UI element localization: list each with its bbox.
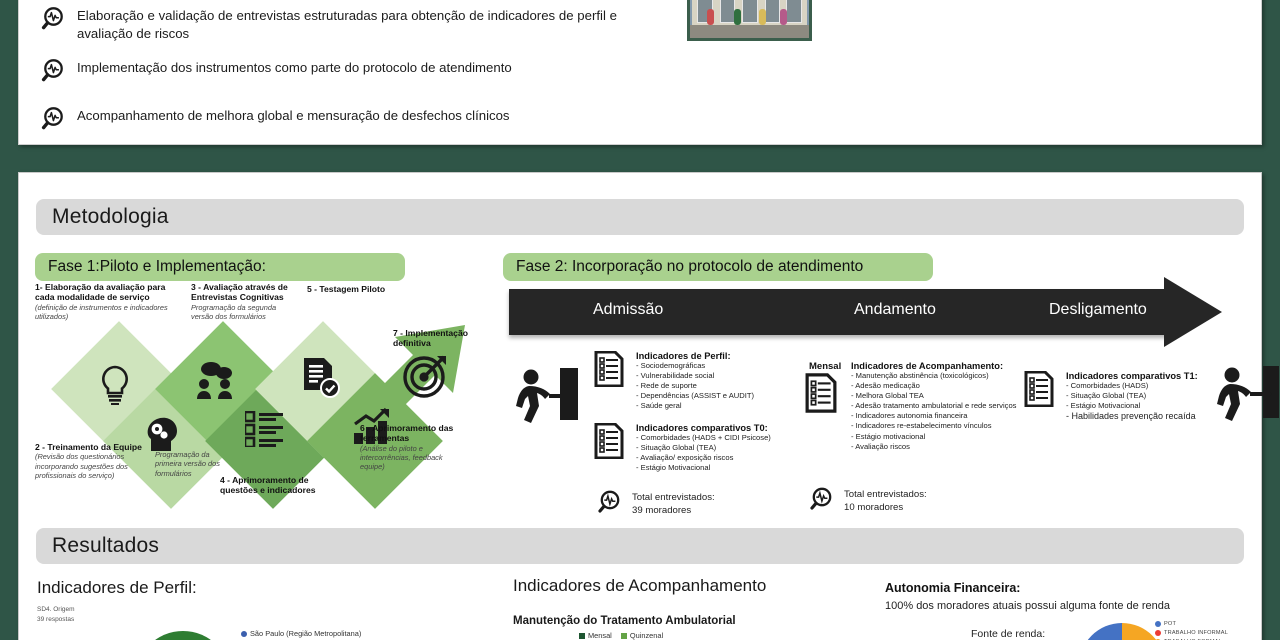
autonomia-title: Autonomia Financeira: xyxy=(885,581,1020,595)
clipboard-icon xyxy=(805,373,837,418)
people-chat-icon xyxy=(195,361,239,406)
acomp-chart-title: Manutenção do Tratamento Ambulatorial xyxy=(513,615,736,627)
block-item: - Adesão tratamento ambulatorial e rede … xyxy=(851,401,1025,411)
block-item: - Comorbidades (HADS + CIDI Psicose) xyxy=(636,433,784,443)
block-item: - Estágio motivacional xyxy=(851,432,1025,442)
timeline-stage-admissao: Admissão xyxy=(593,301,663,319)
timeline-stage-desligamento: Desligamento xyxy=(1049,301,1147,319)
list-item: Elaboração e validação de entrevistas es… xyxy=(41,7,641,42)
magnifier-pulse-icon xyxy=(809,485,837,518)
total-value: 10 moradores xyxy=(844,502,927,515)
block-item: - Estágio Motivacional xyxy=(1066,401,1224,411)
block-title: Indicadores de Acompanhamento: xyxy=(851,361,1025,371)
step-title: 3 - Avaliação através de Entrevistas Cog… xyxy=(191,282,288,302)
block-item: - Rede de suporte xyxy=(636,381,774,391)
target-icon xyxy=(403,353,449,404)
total-label: Total entrevistados: xyxy=(844,489,927,502)
magnifier-pulse-icon xyxy=(41,5,71,38)
block-item: - Avaliação riscos xyxy=(851,442,1025,452)
block-item: - Manutenção abstinência (toxicológicos) xyxy=(851,371,1025,381)
treatment-timeline: Admissão Andamento Desligamento xyxy=(509,289,1224,335)
facility-photo xyxy=(687,0,812,41)
legend-label: TRABALHO INFORMAL xyxy=(1164,630,1228,636)
perfil-pie-legend: São Paulo (Região Metropolitana) xyxy=(241,629,361,638)
fonte-renda-pie-chart xyxy=(1079,623,1165,640)
magnifier-pulse-icon xyxy=(41,57,71,90)
andamento-frequency: Mensal xyxy=(809,361,841,372)
block-item: - Situação Global (TEA) xyxy=(1066,391,1224,401)
fonte-renda-legend: POT TRABALHO INFORMAL TRABALHO FORMAL xyxy=(1155,621,1228,640)
bullet-list: Elaboração e validação de entrevistas es… xyxy=(41,7,641,155)
block-item: - Vulnerabilidade social xyxy=(636,371,774,381)
step-note: Programação da segunda versão dos formul… xyxy=(191,303,296,322)
bullet-text: Implementação dos instrumentos como part… xyxy=(77,59,617,77)
legend-label: Quinzenal xyxy=(630,631,663,640)
person-exiting-icon xyxy=(1217,366,1279,427)
checklist-icon xyxy=(245,411,285,452)
clipboard-icon xyxy=(594,351,624,392)
block-title: Indicadores de Perfil: xyxy=(636,351,774,361)
clipboard-icon xyxy=(1024,371,1054,412)
top-card: Elaboração e validação de entrevistas es… xyxy=(18,0,1262,145)
block-item: - Sociodemográficas xyxy=(636,361,774,371)
legend-label: São Paulo (Região Metropolitana) xyxy=(250,629,361,638)
admissao-total: Total entrevistados: 39 moradores xyxy=(597,488,715,521)
step-title: 7 - Implementação definitiva xyxy=(393,328,468,348)
step-title: 4 - Aprimoramento de questões e indicado… xyxy=(220,475,316,495)
results-col1-title: Indicadores de Perfil: xyxy=(37,578,197,598)
magnifier-pulse-icon xyxy=(41,105,71,138)
list-item: Acompanhamento de melhora global e mensu… xyxy=(41,107,641,138)
block-item: - Indicadores re-estabelecimento vínculo… xyxy=(851,421,1025,431)
step-note: (definição de instrumentos e indicadores… xyxy=(35,303,187,322)
block-item: - Estágio Motivacional xyxy=(636,463,784,473)
perfil-chart-responses: 39 respostas xyxy=(37,615,74,625)
fase1-pill: Fase 1:Piloto e Implementação: xyxy=(35,253,405,281)
lightbulb-icon xyxy=(97,365,133,410)
block-title: Indicadores comparativos T0: xyxy=(636,423,784,433)
clipboard-icon xyxy=(594,423,624,464)
block-item: - Comorbidades (HADS) xyxy=(1066,381,1224,391)
block-item: - Indicadores autonomia financeira xyxy=(851,411,1025,421)
admissao-block-t0: Indicadores comparativos T0: - Comorbida… xyxy=(594,423,784,473)
andamento-total: Total entrevistados: 10 moradores xyxy=(809,485,927,518)
fonte-renda-label: Fonte de renda: xyxy=(971,628,1045,640)
block-item: - Dependências (ASSIST e AUDIT) xyxy=(636,391,774,401)
section-title-resultados: Resultados xyxy=(36,528,1244,564)
step-title: 2 - Treinamento da Equipe xyxy=(35,442,142,452)
autonomia-text: 100% dos moradores atuais possui alguma … xyxy=(885,600,1170,612)
document-check-icon xyxy=(301,357,341,404)
step-note: (Análise do piloto e intercorrências, fe… xyxy=(360,444,460,472)
block-item: - Melhora Global TEA xyxy=(851,391,1025,401)
block-item: - Saúde geral xyxy=(636,401,774,411)
bullet-text: Elaboração e validação de entrevistas es… xyxy=(77,7,617,42)
perfil-chart-caption: SD4. Origem xyxy=(37,605,75,615)
poster-root: Elaboração e validação de entrevistas es… xyxy=(0,0,1280,640)
results-col2-title: Indicadores de Acompanhamento xyxy=(513,576,766,596)
step-note: (Revisão dos questionários incorporando … xyxy=(35,452,155,480)
total-label: Total entrevistados: xyxy=(632,492,715,505)
block-title: Indicadores comparativos T1: xyxy=(1066,371,1224,381)
bullet-text: Acompanhamento de melhora global e mensu… xyxy=(77,107,617,125)
stairs-infographic: Desintoxicação Centro de Convivência xyxy=(829,0,1269,46)
step-title: 1- Elaboração da avaliação para cada mod… xyxy=(35,282,165,302)
legend-label: Mensal xyxy=(588,631,612,640)
timeline-stage-andamento: Andamento xyxy=(854,301,936,319)
person-entering-icon xyxy=(516,368,578,429)
step-title: 5 - Testagem Piloto xyxy=(307,284,385,294)
perfil-pie-chart xyxy=(135,631,231,640)
block-item: - Habilidades prevenção recaída xyxy=(1066,411,1224,423)
andamento-block: Indicadores de Acompanhamento: - Manuten… xyxy=(805,373,1025,452)
block-item: - Situação Global (TEA) xyxy=(636,443,784,453)
fase2-pill: Fase 2: Incorporação no protocolo de ate… xyxy=(503,253,933,281)
admissao-block-perfil: Indicadores de Perfil: - Sociodemográfic… xyxy=(594,351,774,411)
block-item: - Adesão medicação xyxy=(851,381,1025,391)
list-item: Implementação dos instrumentos como part… xyxy=(41,59,641,90)
step-title: 6 - Aprimoramento das ferramentas xyxy=(360,423,453,443)
main-card: Metodologia Fase 1:Piloto e Implementaçã… xyxy=(18,172,1262,640)
block-item: - Avaliação/ exposição riscos xyxy=(636,453,784,463)
magnifier-pulse-icon xyxy=(597,488,625,521)
total-value: 39 moradores xyxy=(632,505,715,518)
desligamento-block: Indicadores comparativos T1: - Comorbida… xyxy=(1024,371,1224,423)
step-note: Programação da primeira versão dos formu… xyxy=(155,450,225,478)
fase1-diagram: 1- Elaboração da avaliação para cada mod… xyxy=(35,283,505,508)
legend-label: POT xyxy=(1164,621,1176,627)
section-title-metodologia: Metodologia xyxy=(36,199,1244,235)
acomp-chart-legend: Mensal Quinzenal xyxy=(579,631,663,640)
